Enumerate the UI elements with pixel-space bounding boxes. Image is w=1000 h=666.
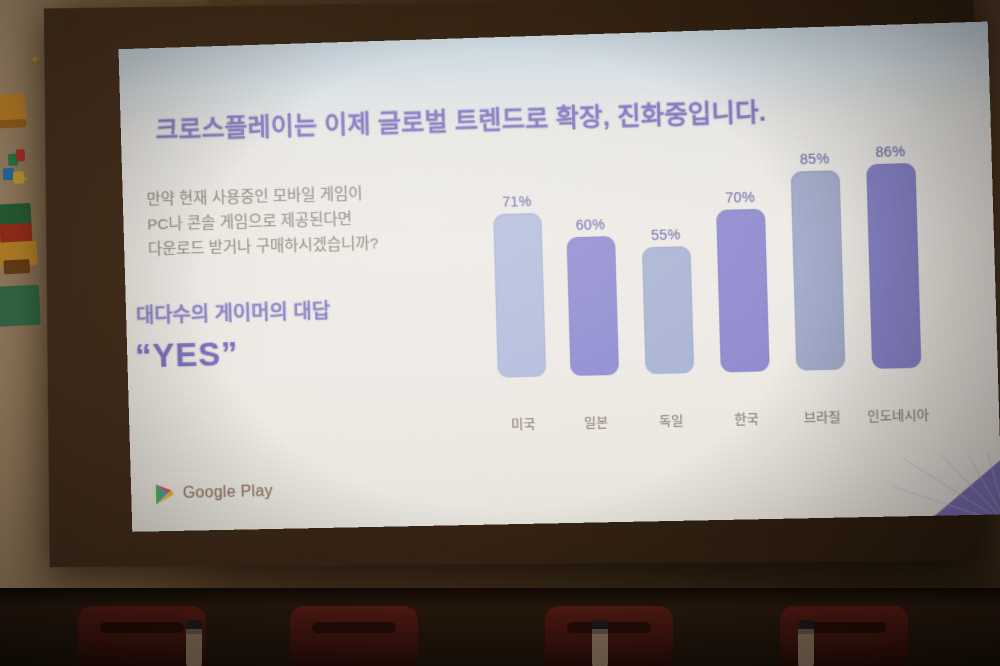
question-line-3: 다운로드 받거나 구매하시겠습니까?	[148, 231, 379, 262]
bar-category-label: 일본	[572, 411, 621, 431]
answer-lead-text: 대다수의 게이머의 대답	[136, 295, 331, 329]
bar-rect	[493, 213, 546, 378]
bar-value-label: 86%	[866, 143, 916, 161]
bar-category-label: 브라질	[797, 406, 847, 426]
bar-group-2: 55% 독일	[642, 246, 695, 399]
bar-value-label: 70%	[715, 188, 764, 206]
presentation-slide: 크로스플레이는 이제 글로벌 트렌드로 확장, 진화중입니다. 만약 현재 사용…	[118, 22, 1000, 532]
answer-yes-text: “YES”	[135, 335, 239, 375]
bar-rect	[791, 170, 846, 371]
bar-group-1: 60% 일본	[566, 236, 619, 401]
bar-category-label: 독일	[647, 409, 696, 429]
bar-value-label: 71%	[492, 193, 541, 210]
bar-rect	[566, 236, 619, 376]
room-photo: ✦ ✦ ✦ ✦ 크로스플레이는 이제 글로벌 트렌드로 확장, 진화중입니다. …	[0, 0, 1000, 666]
water-bottle	[798, 620, 814, 666]
google-play-logo: Google Play	[155, 481, 273, 505]
slide-title: 크로스플레이는 이제 글로벌 트렌드로 확장, 진화중입니다.	[155, 92, 767, 146]
bar-value-label: 55%	[641, 226, 690, 243]
bar-category-label: 한국	[722, 408, 772, 428]
bar-chart: 71% 미국 60% 일본 55% 독일 70% 한국	[492, 175, 973, 439]
bar-value-label: 85%	[790, 150, 840, 168]
question-text: 만약 현재 사용중인 모바일 게임이 PC나 콘솔 게임으로 제공된다면 다운로…	[146, 181, 378, 262]
bar-group-4: 85% 브라질	[791, 170, 847, 396]
bar-group-0: 71% 미국	[493, 213, 547, 403]
google-play-label: Google Play	[183, 483, 274, 503]
google-play-triangle-icon	[155, 483, 175, 505]
bar-category-label: 인도네시아	[854, 404, 943, 425]
chair	[545, 606, 673, 666]
bar-group-3: 70% 한국	[716, 209, 770, 398]
bar-value-label: 60%	[566, 216, 615, 233]
bar-rect	[716, 209, 770, 373]
water-bottle	[592, 620, 608, 666]
chair	[290, 606, 418, 666]
bar-rect	[642, 246, 694, 374]
bar-group-5: 86% 인도네시아	[866, 163, 922, 394]
bar-rect	[866, 163, 921, 369]
water-bottle	[186, 620, 202, 666]
projector-screen-frame: 크로스플레이는 이제 글로벌 트렌드로 확장, 진화중입니다. 만약 현재 사용…	[44, 0, 980, 567]
bar-category-label: 미국	[499, 413, 548, 433]
